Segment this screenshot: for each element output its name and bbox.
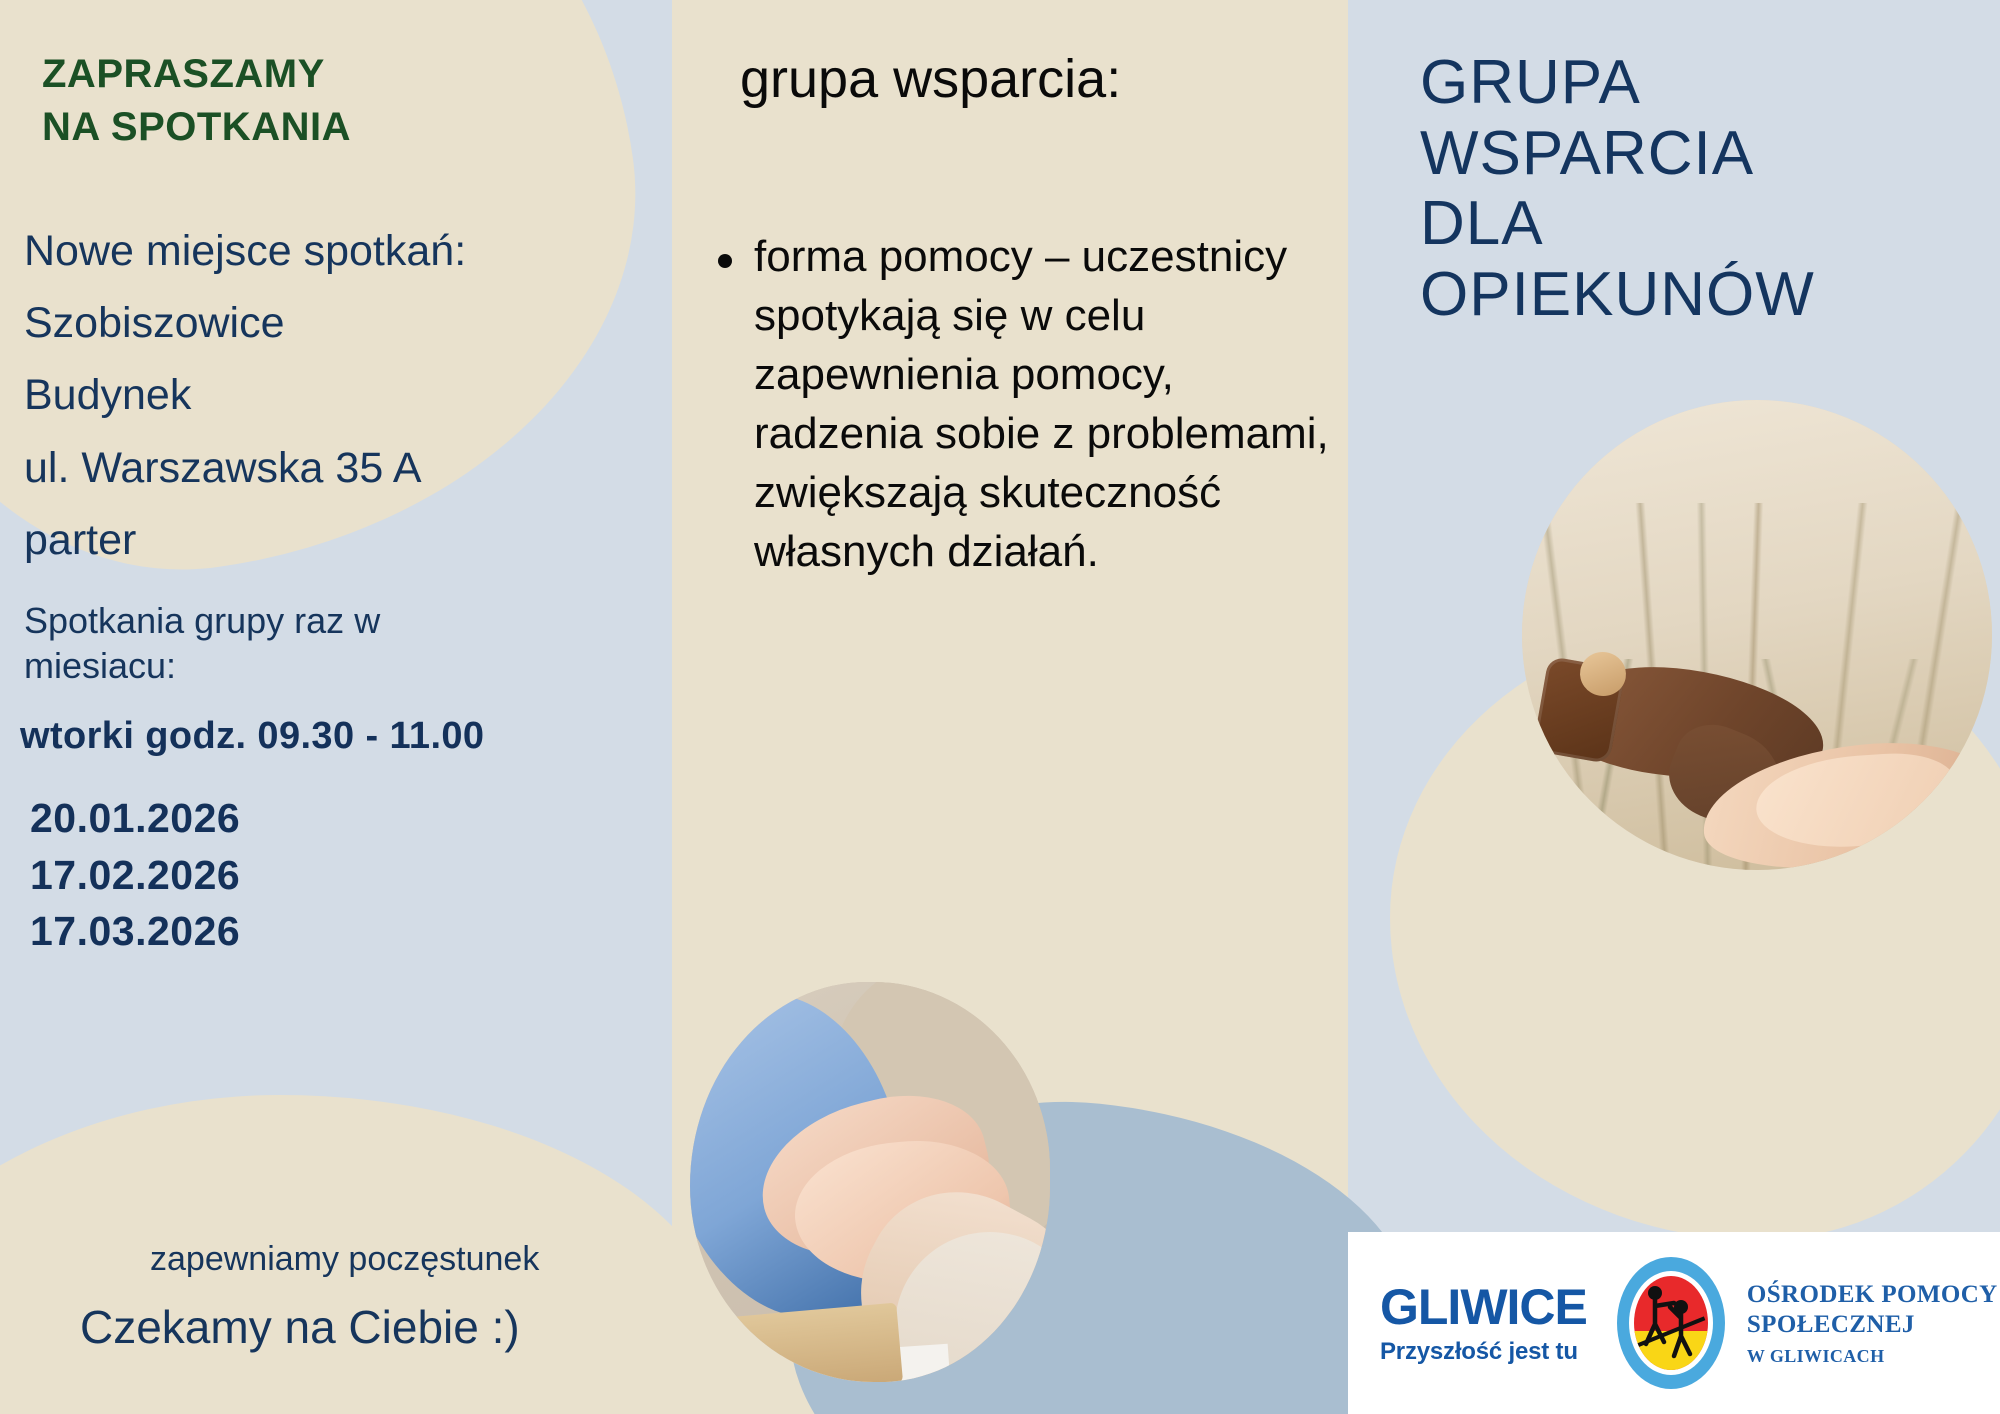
ops-name-line-2: SPOŁECZNEJ <box>1747 1310 1998 1341</box>
meeting-place-block: Nowe miejsce spotkań: Szobiszowice Budyn… <box>24 215 624 576</box>
ops-red-field <box>1634 1276 1708 1370</box>
bullet-dot-icon <box>718 254 732 268</box>
photo-holding-hands <box>690 982 1050 1382</box>
place-line-1: Nowe miejsce spotkań: <box>24 215 624 287</box>
meeting-date: 17.02.2026 <box>30 847 240 904</box>
invitation-line-1: ZAPRASZAMY <box>42 48 562 101</box>
support-group-subtitle: grupa wsparcia: <box>740 50 1340 109</box>
ops-figures-icon <box>1634 1276 1708 1370</box>
meeting-hours: wtorki godz. 09.30 - 11.00 <box>20 715 640 758</box>
refreshments-note: zapewniamy poczęstunek <box>150 1240 539 1279</box>
meeting-date: 17.03.2026 <box>30 903 240 960</box>
support-group-description-text: forma pomocy – uczestnicy spotykają się … <box>754 228 1338 582</box>
closing-message: Czekamy na Ciebie :) <box>80 1300 520 1354</box>
gliwice-city-logo: GLIWICE Przyszłość jest tu <box>1380 1282 1587 1364</box>
place-line-3: Budynek <box>24 359 624 431</box>
support-group-description-item: forma pomocy – uczestnicy spotykają się … <box>718 228 1338 582</box>
ops-name-line-1: OŚRODEK POMOCY <box>1747 1280 1998 1311</box>
place-line-5: parter <box>24 504 624 576</box>
ops-emblem-icon <box>1617 1257 1725 1389</box>
frequency-line-2: miesiacu: <box>24 643 564 688</box>
gliwice-tagline: Przyszłość jest tu <box>1380 1340 1578 1364</box>
frequency-line-1: Spotkania grupy raz w <box>24 598 564 643</box>
invitation-heading: ZAPRASZAMY NA SPOTKANIA <box>42 48 562 154</box>
poster-title-line-2: WSPARCIA <box>1420 119 1990 190</box>
poster-canvas: ZAPRASZAMY NA SPOTKANIA Nowe miejsce spo… <box>0 0 2000 1414</box>
poster-title-line-1: GRUPA <box>1420 48 1990 119</box>
poster-title: GRUPA WSPARCIA DLA OPIEKUNÓW <box>1420 48 1990 331</box>
meeting-date: 20.01.2026 <box>30 790 240 847</box>
invitation-line-2: NA SPOTKANIA <box>42 101 562 154</box>
gliwice-wordmark: GLIWICE <box>1380 1282 1587 1332</box>
meeting-dates-list: 20.01.2026 17.02.2026 17.03.2026 <box>30 790 240 960</box>
ops-name-line-3: W GLIWICACH <box>1747 1346 1998 1367</box>
poster-title-line-4: OPIEKUNÓW <box>1420 260 1990 331</box>
place-line-2: Szobiszowice <box>24 287 624 359</box>
ops-name-text: OŚRODEK POMOCY SPOŁECZNEJ W GLIWICACH <box>1747 1280 1998 1367</box>
poster-title-line-3: DLA <box>1420 189 1990 260</box>
ops-gliwice-logo: OŚRODEK POMOCY SPOŁECZNEJ W GLIWICACH <box>1617 1257 1998 1389</box>
place-line-4: ul. Warszawska 35 A <box>24 432 624 504</box>
logo-bar: GLIWICE Przyszłość jest tu <box>1348 1232 2000 1414</box>
photo-hands-in-field <box>1522 400 1992 870</box>
meeting-frequency-block: Spotkania grupy raz w miesiacu: <box>24 598 564 689</box>
